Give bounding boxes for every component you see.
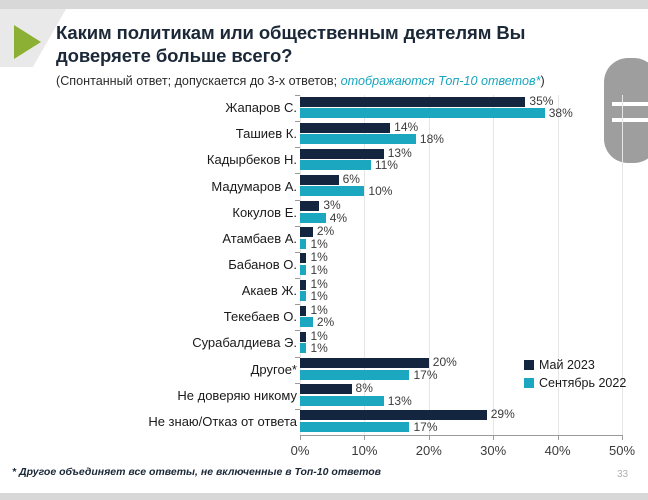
value-label: 38% bbox=[549, 106, 573, 120]
subtitle-emphasis: отображаются Топ-10 ответов* bbox=[341, 74, 541, 88]
chart-row: Атамбаев А.2%1% bbox=[0, 226, 648, 252]
x-tick-label: 30% bbox=[480, 443, 506, 458]
page-number: 33 bbox=[617, 469, 628, 480]
bar-series-a bbox=[300, 149, 384, 159]
subtitle-close: ) bbox=[540, 74, 544, 88]
subtitle-plain: (Спонтанный ответ; допускается до 3-х от… bbox=[56, 74, 341, 88]
value-label: 1% bbox=[310, 341, 327, 355]
category-label: Не доверяю никому bbox=[0, 388, 297, 403]
chart-row: Кокулов Е.3%4% bbox=[0, 200, 648, 226]
chart-row: Не знаю/Отказ от ответа29%17% bbox=[0, 409, 648, 435]
bar-series-b bbox=[300, 343, 306, 353]
bar-series-b bbox=[300, 422, 409, 432]
bar-series-b bbox=[300, 370, 409, 380]
value-label: 6% bbox=[343, 172, 360, 186]
category-label: Мадумаров А. bbox=[0, 179, 297, 194]
bar-series-b bbox=[300, 134, 416, 144]
bar-series-a bbox=[300, 175, 339, 185]
x-tick bbox=[364, 435, 365, 440]
x-axis-line bbox=[300, 435, 622, 436]
x-tick-label: 10% bbox=[351, 443, 377, 458]
x-tick bbox=[622, 435, 623, 440]
x-tick-label: 0% bbox=[291, 443, 310, 458]
category-label: Ташиев К. bbox=[0, 126, 297, 141]
legend-item-series-b: Сентябрь 2022 bbox=[524, 376, 626, 390]
value-label: 14% bbox=[394, 120, 418, 134]
bar-series-a bbox=[300, 201, 319, 211]
category-label: Текебаев О. bbox=[0, 309, 297, 324]
x-tick-label: 40% bbox=[545, 443, 571, 458]
bar-series-b bbox=[300, 213, 326, 223]
x-tick-label: 50% bbox=[609, 443, 635, 458]
value-label: 1% bbox=[310, 289, 327, 303]
bar-series-a bbox=[300, 410, 487, 420]
value-label: 4% bbox=[330, 211, 347, 225]
category-label: Сурабалдиева Э. bbox=[0, 335, 297, 350]
value-label: 8% bbox=[356, 381, 373, 395]
bar-series-a bbox=[300, 358, 429, 368]
category-label: Акаев Ж. bbox=[0, 283, 297, 298]
bar-series-a bbox=[300, 384, 352, 394]
bar-series-b bbox=[300, 291, 306, 301]
bar-series-b bbox=[300, 317, 313, 327]
category-label: Не знаю/Отказ от ответа bbox=[0, 414, 297, 429]
x-tick bbox=[558, 435, 559, 440]
chart-row: Мадумаров А.6%10% bbox=[0, 173, 648, 199]
category-label: Бабанов О. bbox=[0, 257, 297, 272]
bar-series-b bbox=[300, 396, 384, 406]
value-label: 1% bbox=[310, 237, 327, 251]
value-label: 1% bbox=[310, 263, 327, 277]
bar-series-b bbox=[300, 108, 545, 118]
chart-row: Бабанов О.1%1% bbox=[0, 252, 648, 278]
category-label: Кокулов Е. bbox=[0, 205, 297, 220]
play-triangle-icon bbox=[14, 25, 41, 59]
category-label: Атамбаев А. bbox=[0, 231, 297, 246]
bar-series-b bbox=[300, 160, 371, 170]
bar-series-a bbox=[300, 253, 306, 263]
page-title: Каким политикам или общественным деятеля… bbox=[56, 21, 576, 68]
chart-row: Сурабалдиева Э.1%1% bbox=[0, 330, 648, 356]
category-label: Жапаров С. bbox=[0, 100, 297, 115]
chart-legend: Май 2023 Сентябрь 2022 bbox=[524, 358, 626, 394]
chart-row: Кадырбеков Н.13%11% bbox=[0, 147, 648, 173]
bar-series-a bbox=[300, 306, 306, 316]
value-label: 13% bbox=[388, 394, 412, 408]
value-label: 29% bbox=[491, 407, 515, 421]
x-tick bbox=[429, 435, 430, 440]
category-label: Другое* bbox=[0, 362, 297, 377]
x-tick bbox=[493, 435, 494, 440]
slide: Каким политикам или общественным деятеля… bbox=[0, 0, 648, 500]
bar-series-a bbox=[300, 123, 390, 133]
bar-series-b bbox=[300, 239, 306, 249]
chart-row: Текебаев О.1%2% bbox=[0, 304, 648, 330]
bar-series-a bbox=[300, 97, 525, 107]
bar-series-a bbox=[300, 280, 306, 290]
bar-series-b bbox=[300, 265, 306, 275]
x-tick bbox=[300, 435, 301, 440]
value-label: 17% bbox=[413, 368, 437, 382]
bar-series-a bbox=[300, 332, 306, 342]
page-subtitle: (Спонтанный ответ; допускается до 3-х от… bbox=[56, 74, 616, 88]
category-label: Кадырбеков Н. bbox=[0, 152, 297, 167]
legend-label-a: Май 2023 bbox=[539, 358, 595, 372]
bar-series-b bbox=[300, 186, 364, 196]
value-label: 11% bbox=[375, 158, 398, 172]
chart-row: Ташиев К.14%18% bbox=[0, 121, 648, 147]
legend-swatch-icon-b bbox=[524, 378, 534, 388]
x-tick-label: 20% bbox=[416, 443, 442, 458]
footnote: * Другое объединяет все ответы, не включ… bbox=[12, 466, 381, 478]
legend-swatch-icon-a bbox=[524, 360, 534, 370]
bar-chart: 0%10%20%30%40%50% Жапаров С.35%38%Ташиев… bbox=[0, 95, 648, 450]
value-label: 18% bbox=[420, 132, 444, 146]
top-band bbox=[0, 0, 648, 9]
chart-row: Акаев Ж.1%1% bbox=[0, 278, 648, 304]
chart-row: Жапаров С.35%38% bbox=[0, 95, 648, 121]
value-label: 2% bbox=[317, 315, 334, 329]
value-label: 10% bbox=[368, 184, 392, 198]
bar-series-a bbox=[300, 227, 313, 237]
bottom-band bbox=[0, 493, 648, 500]
legend-label-b: Сентябрь 2022 bbox=[539, 376, 626, 390]
value-label: 17% bbox=[413, 420, 437, 434]
legend-item-series-a: Май 2023 bbox=[524, 358, 626, 372]
